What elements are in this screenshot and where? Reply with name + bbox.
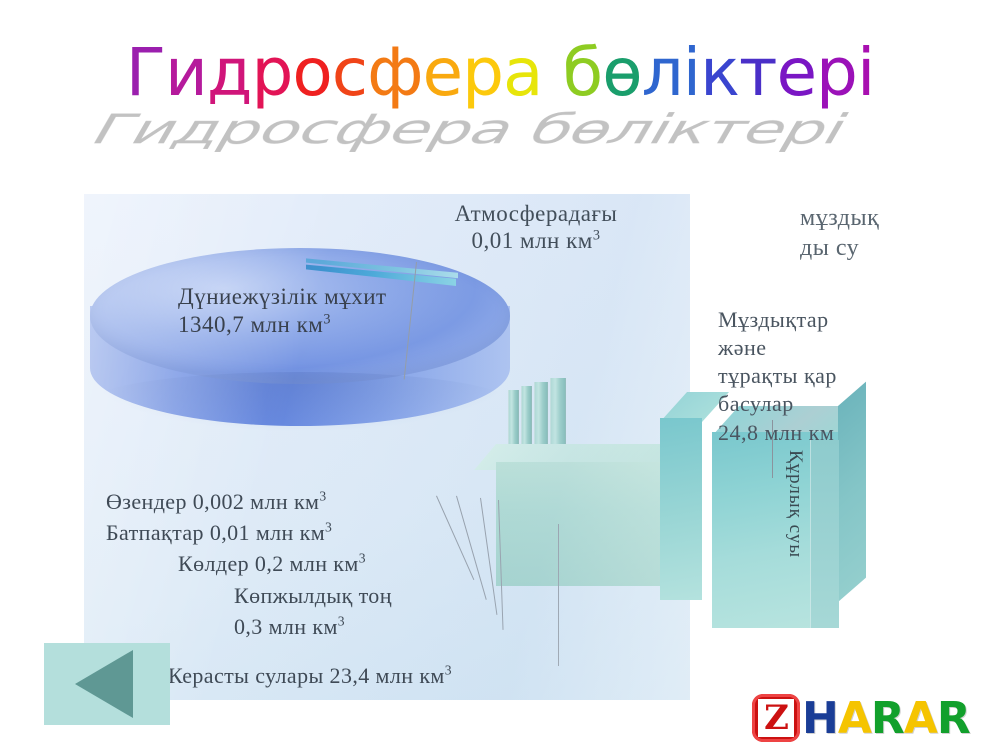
- label-atmosphere: Атмосферадағы 0,01 млн км3: [406, 200, 666, 254]
- label-glaciers: Мұздықтар және тұрақты қар басулар 24,8 …: [718, 306, 837, 447]
- label-glaciers-line3: тұрақты қар: [718, 362, 837, 390]
- title-letter-17: е: [776, 40, 816, 106]
- title-letter-9: а: [503, 40, 542, 106]
- label-truncated-line2: ды су: [800, 233, 879, 263]
- logo-letter-r1: R: [871, 693, 904, 744]
- superscript-3: 3: [445, 663, 452, 678]
- logo-badge-letter: Z: [758, 699, 794, 737]
- title-letter-4: о: [292, 40, 331, 106]
- label-world-ocean-name: Дүниежүзілік мұхит: [178, 283, 387, 311]
- land-water-box-side: [838, 382, 866, 602]
- title-area: Гидросфера бөліктері Гидросфера бөліктер…: [0, 40, 1000, 150]
- list-item-swamps: Батпақтар 0,01 млн км3: [100, 517, 660, 548]
- title-shadow-text: Гидросфера бөліктері: [0, 109, 982, 150]
- superscript-3: 3: [359, 551, 366, 566]
- title-letter-10: [543, 40, 563, 106]
- list-item-lakes: Көлдер 0,2 млн км3: [100, 548, 660, 579]
- logo-letter-a2: A: [904, 693, 937, 744]
- title-letter-13: л: [642, 40, 683, 106]
- list-item-permafrost-value: 0,3 млн км3: [100, 611, 660, 642]
- page-title: Гидросфера бөліктері: [0, 40, 1000, 106]
- title-letter-14: і: [683, 40, 700, 106]
- prev-slide-button[interactable]: [44, 643, 170, 725]
- title-letter-12: ө: [602, 40, 641, 106]
- list-item-rivers: Өзендер 0,002 млн км3: [100, 486, 660, 517]
- list-item-permafrost: Көпжылдық тоң: [100, 580, 660, 611]
- label-truncated-right: мұздық ды су: [800, 203, 879, 263]
- triangle-left-icon: [75, 650, 133, 718]
- label-glaciers-line1: Мұздықтар: [718, 306, 837, 334]
- logo-letter-h: H: [802, 693, 838, 744]
- title-letter-5: с: [332, 40, 367, 106]
- superscript-3: 3: [325, 520, 332, 535]
- logo-badge: Z: [752, 694, 800, 742]
- title-letter-8: р: [462, 40, 503, 106]
- component-value-list: Өзендер 0,002 млн км3 Батпақтар 0,01 млн…: [100, 486, 660, 691]
- title-letter-7: е: [423, 40, 463, 106]
- title-letter-1: и: [165, 40, 207, 106]
- title-letter-6: ф: [367, 40, 422, 106]
- label-glaciers-line5: 24,8 млн км: [718, 419, 837, 447]
- glacier-slab-face: [660, 418, 702, 600]
- title-letter-11: б: [562, 40, 602, 106]
- label-truncated-line1: мұздық: [800, 203, 879, 233]
- title-letter-0: Г: [126, 40, 165, 106]
- zharar-logo: Z H A R A R: [752, 692, 970, 744]
- title-letter-18: р: [816, 40, 857, 106]
- label-world-ocean-value: 1340,7 млн км3: [178, 311, 387, 339]
- superscript-3: 3: [338, 614, 345, 629]
- title-letter-15: к: [700, 40, 739, 106]
- title-letter-2: д: [207, 40, 252, 106]
- slide-canvas: Гидросфера бөліктері Гидросфера бөліктер…: [0, 0, 1000, 750]
- label-world-ocean: Дүниежүзілік мұхит 1340,7 млн км3: [178, 283, 387, 338]
- list-item-groundwater: Керасты сулары 23,4 млн км3: [100, 642, 660, 691]
- superscript-3: 3: [319, 489, 326, 504]
- label-glaciers-line4: басулар: [718, 390, 837, 418]
- label-atmosphere-name: Атмосферадағы: [406, 200, 666, 227]
- land-water-box-right-face: [810, 440, 839, 628]
- logo-letter-a1: A: [838, 693, 871, 744]
- superscript-3: 3: [323, 311, 331, 327]
- title-letter-19: і: [857, 40, 874, 106]
- label-atmosphere-value: 0,01 млн км3: [406, 227, 666, 254]
- label-glaciers-line2: және: [718, 334, 837, 362]
- logo-letter-r2: R: [937, 693, 970, 744]
- title-letter-16: т: [739, 40, 776, 106]
- superscript-3: 3: [593, 227, 601, 243]
- title-letter-3: р: [252, 40, 293, 106]
